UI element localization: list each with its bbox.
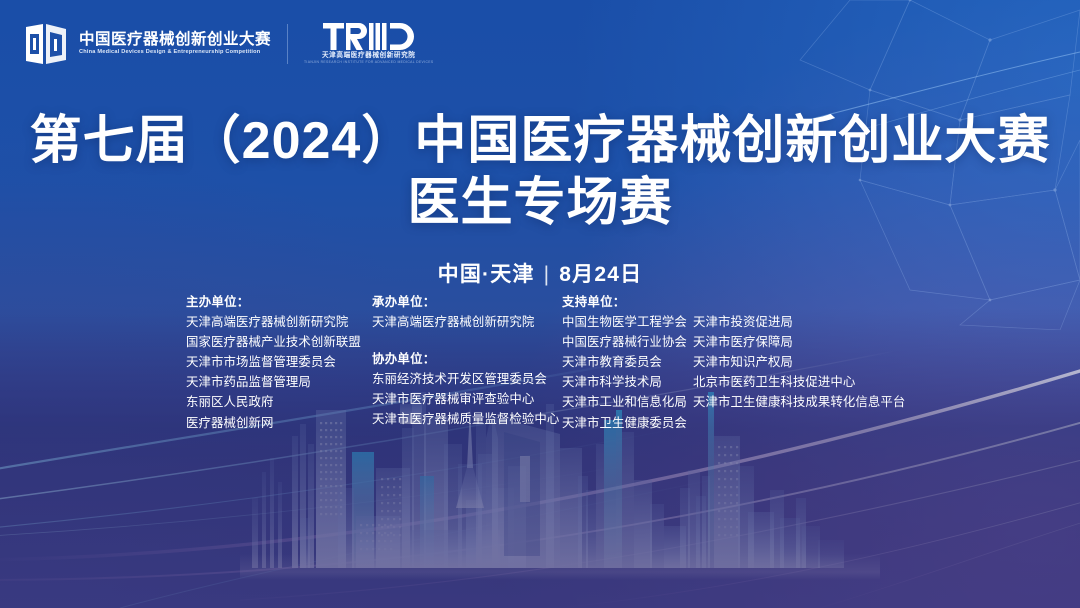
open-door-logo-icon	[24, 22, 70, 66]
column-spacer	[372, 332, 562, 349]
supporter-lists: 中国生物医学工程学会 中国医疗器械行业协会 天津市教育委员会 天津市科学技术局 …	[562, 312, 903, 433]
organizer-block: 主办单位： 天津高端医疗器械创新研究院 国家医疗器械产业技术创新联盟 天津市市场…	[186, 292, 903, 433]
institute-logo[interactable]: 天津高端医疗器械创新研究院 TIANJIN RESEARCH INSTITUTE…	[304, 23, 433, 65]
organizer-column-undertaker: 承办单位： 天津高端医疗器械创新研究院 协办单位： 东丽经济技术开发区管理委员会…	[372, 292, 562, 430]
header-logos: 中国医疗器械创新创业大赛 China Medical Devices Desig…	[24, 22, 433, 66]
coorganizer-item: 天津市医疗器械审评查验中心	[372, 389, 562, 409]
institute-name-en: TIANJIN RESEARCH INSTITUTE FOR ADVANCED …	[304, 61, 433, 65]
organizer-column-host: 主办单位： 天津高端医疗器械创新研究院 国家医疗器械产业技术创新联盟 天津市市场…	[186, 292, 372, 433]
supporter-item: 天津市投资促进局	[693, 312, 903, 332]
supporter-list-left: 中国生物医学工程学会 中国医疗器械行业协会 天津市教育委员会 天津市科学技术局 …	[562, 312, 693, 433]
host-item: 天津市药品监督管理局	[186, 372, 372, 392]
host-heading: 主办单位：	[186, 292, 372, 312]
title-line-1: 第七届（2024）中国医疗器械创新创业大赛	[0, 112, 1080, 170]
supporter-item: 天津市卫生健康委员会	[562, 413, 693, 433]
undertaker-item: 天津高端医疗器械创新研究院	[372, 312, 562, 332]
poster-canvas: 中国医疗器械创新创业大赛 China Medical Devices Desig…	[0, 0, 1080, 608]
supporter-item: 北京市医药卫生科技促进中心	[693, 372, 903, 392]
host-item: 天津高端医疗器械创新研究院	[186, 312, 372, 332]
host-item: 医疗器械创新网	[186, 413, 372, 433]
host-item: 国家医疗器械产业技术创新联盟	[186, 332, 372, 352]
competition-logo[interactable]: 中国医疗器械创新创业大赛 China Medical Devices Desig…	[24, 22, 271, 66]
organizer-column-supporter: 支持单位： 中国生物医学工程学会 中国医疗器械行业协会 天津市教育委员会 天津市…	[562, 292, 903, 433]
supporter-item: 天津市教育委员会	[562, 352, 693, 372]
event-location: 中国·天津	[438, 263, 535, 286]
poster-title: 第七届（2024）中国医疗器械创新创业大赛 医生专场赛	[0, 112, 1080, 238]
event-date: 8月24日	[559, 263, 642, 286]
supporter-item: 天津市医疗保障局	[693, 332, 903, 352]
supporter-item: 中国生物医学工程学会	[562, 312, 693, 332]
supporter-item: 天津市工业和信息化局	[562, 392, 693, 412]
coorganizer-item: 东丽经济技术开发区管理委员会	[372, 369, 562, 389]
logo-divider	[287, 24, 288, 64]
supporter-item: 天津市知识产权局	[693, 352, 903, 372]
coorganizer-heading: 协办单位：	[372, 349, 562, 369]
institute-name-cn: 天津高端医疗器械创新研究院	[322, 52, 416, 59]
supporter-item: 天津市卫生健康科技成果转化信息平台	[693, 392, 903, 412]
competition-name-en: China Medical Devices Design & Entrepren…	[79, 50, 271, 56]
host-item: 东丽区人民政府	[186, 392, 372, 412]
event-dateline: 中国·天津|8月24日	[0, 258, 1080, 288]
dateline-separator: |	[544, 263, 551, 287]
supporter-heading: 支持单位：	[562, 292, 903, 312]
title-line-2: 医生专场赛	[0, 170, 1080, 238]
coorganizer-item: 天津市医疗器械质量监督检验中心	[372, 409, 562, 429]
host-item: 天津市市场监督管理委员会	[186, 352, 372, 372]
supporter-item: 中国医疗器械行业协会	[562, 332, 693, 352]
undertaker-heading: 承办单位：	[372, 292, 562, 312]
supporter-list-right: 天津市投资促进局 天津市医疗保障局 天津市知识产权局 北京市医药卫生科技促进中心…	[693, 312, 903, 433]
supporter-item: 天津市科学技术局	[562, 372, 693, 392]
competition-name-cn: 中国医疗器械创新创业大赛	[79, 32, 271, 48]
trimd-wordmark-icon	[323, 23, 415, 50]
